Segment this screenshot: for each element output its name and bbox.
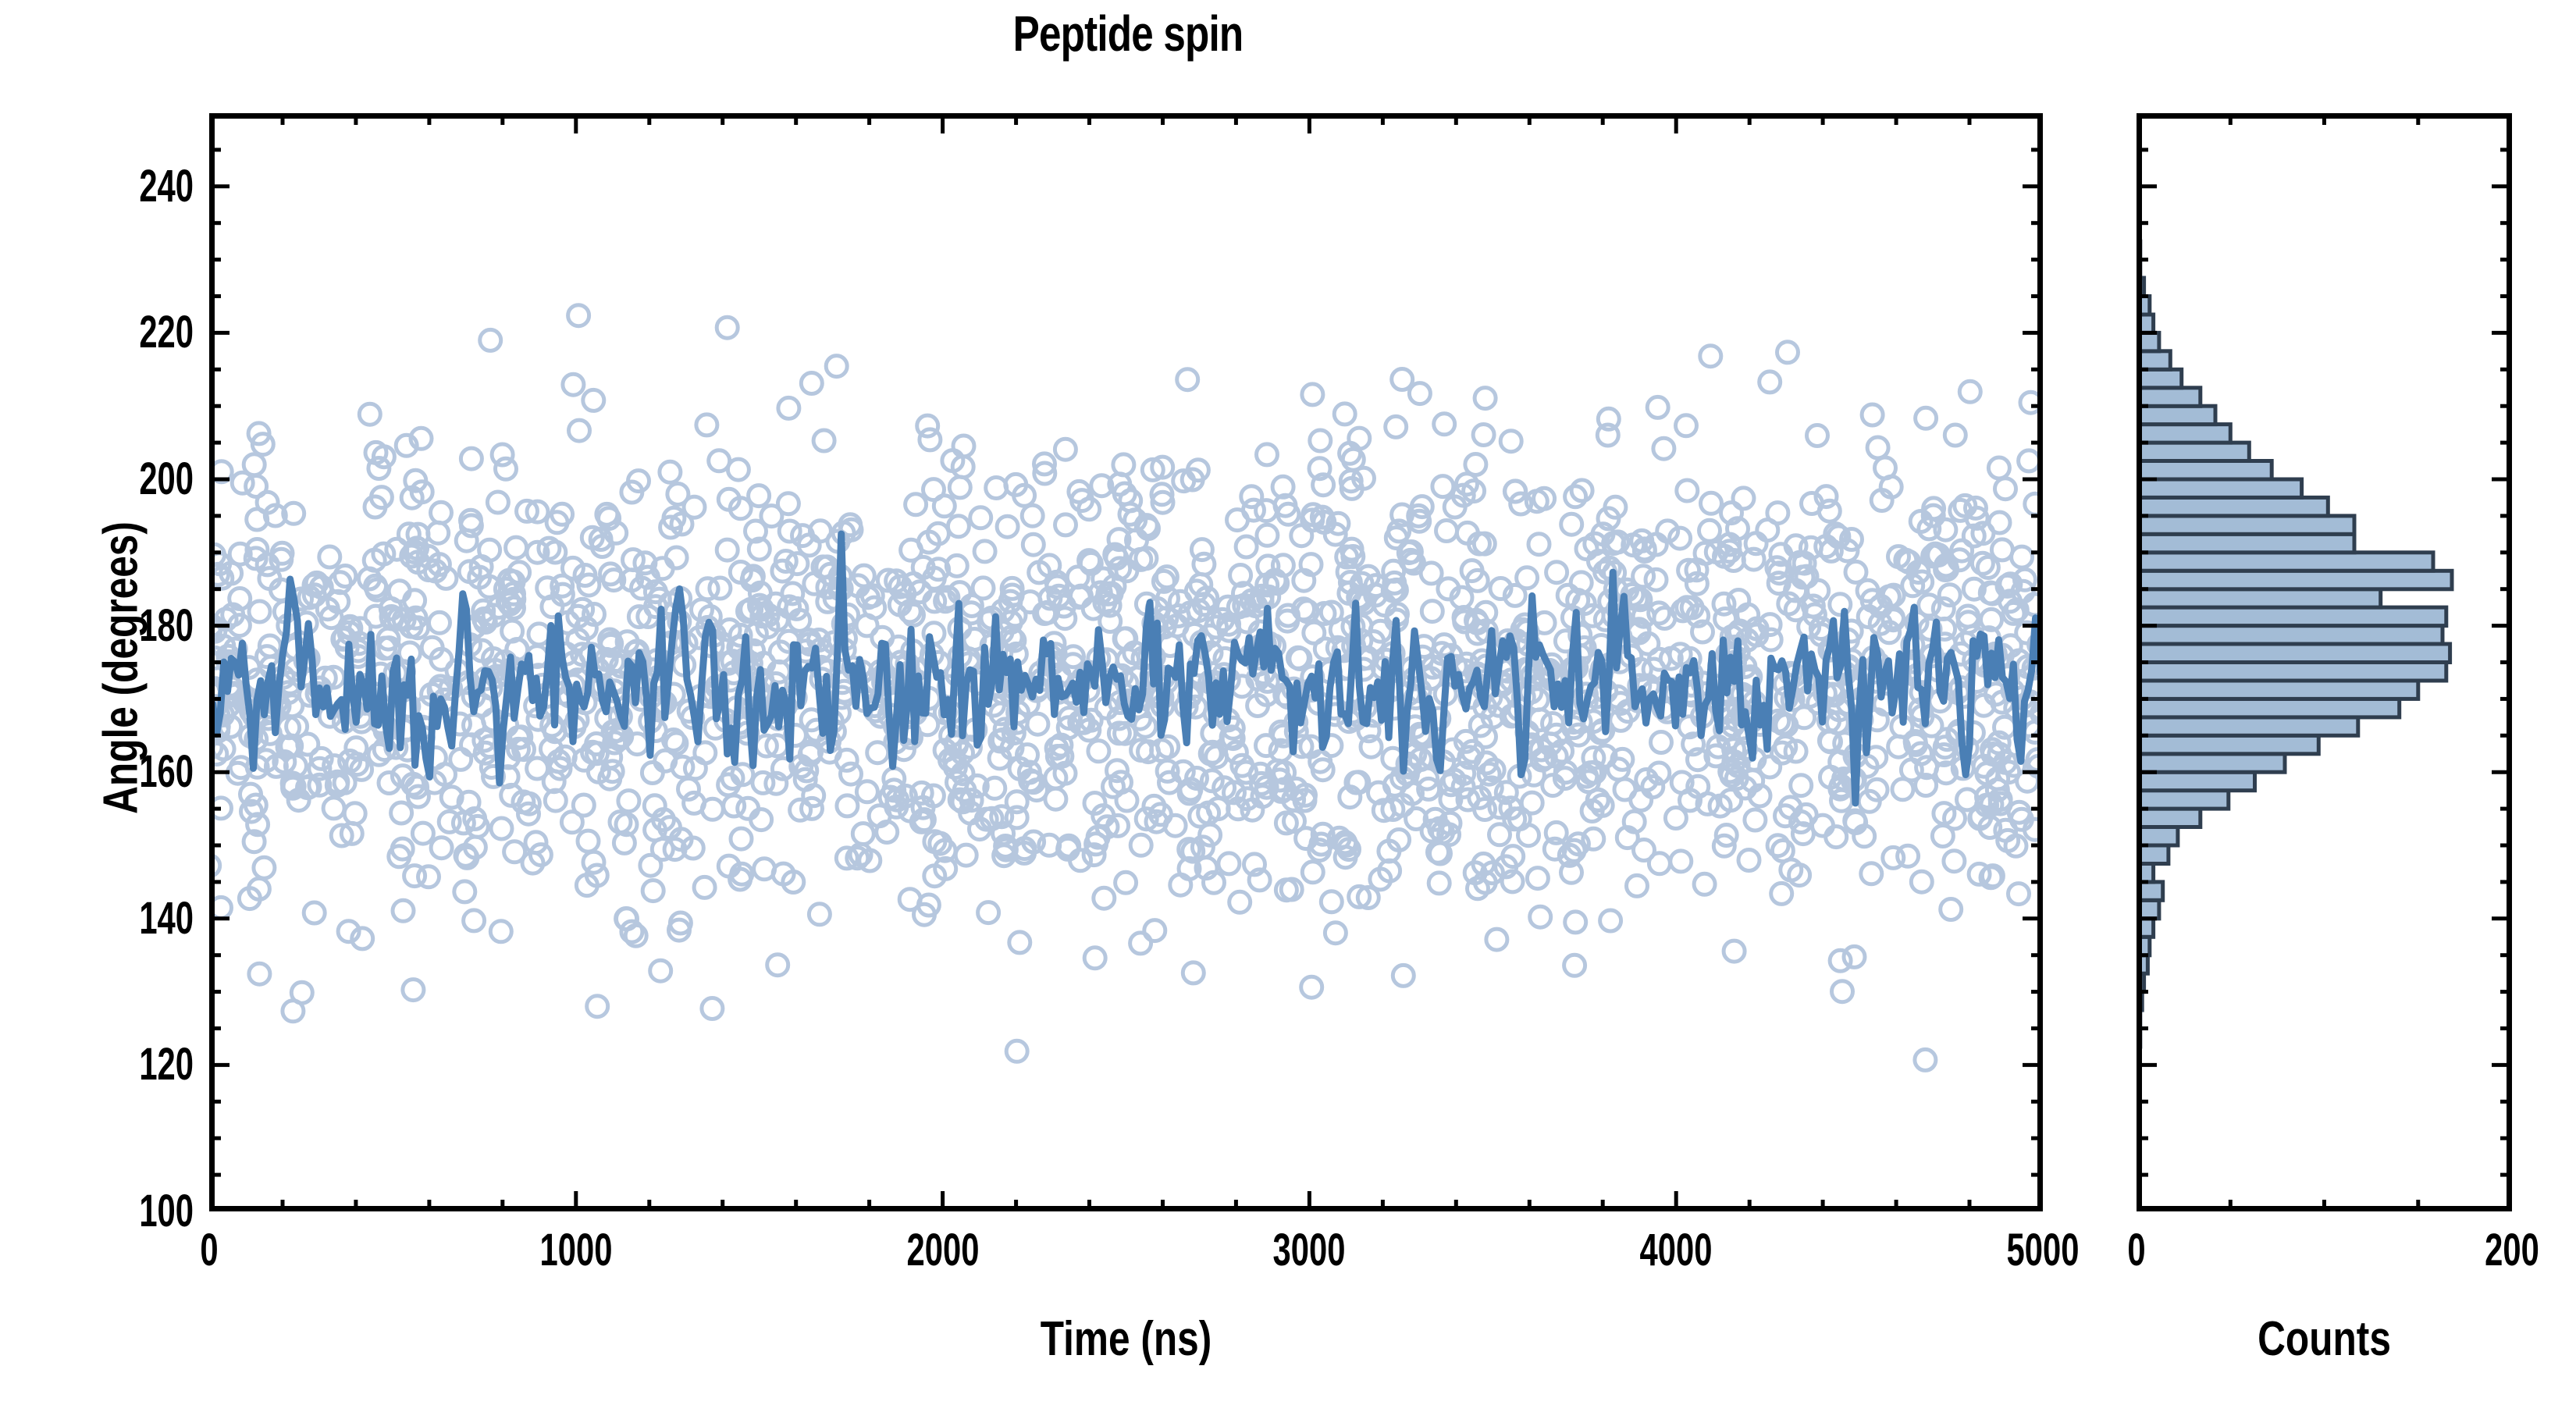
- histogram-bar: [2137, 681, 2418, 699]
- histogram-panel: [2137, 113, 2512, 1211]
- figure-canvas: Peptide spin Time (ns) Angle (degrees) C…: [0, 0, 2576, 1405]
- hist-xtick-label: 0: [2052, 1224, 2221, 1276]
- histogram-bar: [2137, 534, 2354, 553]
- histogram-bar: [2137, 663, 2446, 681]
- main-ytick-label: 140: [30, 887, 194, 950]
- histogram-bar: [2137, 571, 2452, 589]
- hist-xtick-label: 200: [2428, 1224, 2576, 1276]
- main-yaxis-label: Angle (degrees): [94, 262, 149, 1074]
- histogram-bar: [2137, 607, 2446, 626]
- histogram-bar: [2137, 516, 2354, 534]
- histogram-bar: [2137, 388, 2201, 407]
- histogram-bar: [2137, 827, 2178, 846]
- histogram-bar: [2137, 754, 2285, 772]
- main-ytick-label: 160: [30, 741, 194, 803]
- hist-xaxis-label: Counts: [2174, 1311, 2475, 1367]
- plot-title: Peptide spin: [226, 5, 2030, 62]
- histogram-bar: [2137, 369, 2182, 388]
- main-xtick-label: 4000: [1592, 1224, 1760, 1276]
- main-plot-svg: [209, 113, 2043, 1211]
- main-ytick-label: 180: [30, 595, 194, 657]
- main-ytick-label: 120: [30, 1033, 194, 1096]
- histogram-bar: [2137, 479, 2302, 497]
- main-xtick-label: 3000: [1225, 1224, 1393, 1276]
- histogram-bar: [2137, 443, 2249, 461]
- histogram-bar: [2137, 791, 2229, 809]
- histogram-svg: [2137, 113, 2512, 1211]
- histogram-bar: [2137, 425, 2230, 443]
- histogram-bar: [2137, 772, 2255, 791]
- histogram-bar: [2137, 809, 2201, 827]
- histogram-bar: [2137, 406, 2215, 424]
- histogram-bar: [2137, 553, 2433, 571]
- histogram-bar: [2137, 461, 2272, 480]
- main-xtick-label: 2000: [859, 1224, 1027, 1276]
- histogram-bar: [2137, 626, 2443, 644]
- main-ytick-label: 100: [30, 1180, 194, 1243]
- main-ytick-label: 240: [30, 155, 194, 218]
- histogram-bar: [2137, 644, 2450, 663]
- histogram-bar: [2137, 717, 2358, 735]
- histogram-bar: [2137, 497, 2328, 516]
- main-xaxis-label: Time (ns): [393, 1311, 1859, 1367]
- histogram-bar: [2137, 589, 2381, 607]
- main-ytick-label: 220: [30, 301, 194, 364]
- histogram-bar: [2137, 735, 2318, 754]
- main-xtick-label: 1000: [492, 1224, 660, 1276]
- main-scatter-panel: [209, 113, 2043, 1211]
- main-ytick-label: 200: [30, 448, 194, 510]
- histogram-bar: [2137, 699, 2400, 717]
